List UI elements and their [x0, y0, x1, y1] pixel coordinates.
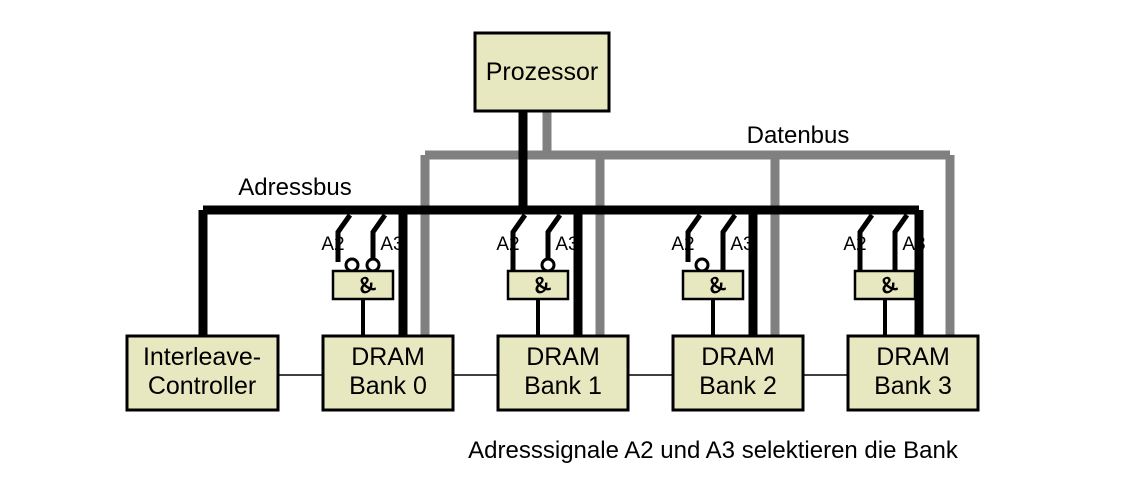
processor-box[interactable]: Prozessor [475, 33, 609, 111]
diagram-caption: Adresssignale A2 und A3 selektieren die … [468, 437, 959, 464]
inversion-bubble-a2-bank0 [346, 259, 358, 271]
interleave-controller-label-line1: Interleave- [143, 343, 261, 371]
processor-label: Prozessor [486, 58, 599, 86]
data-bus-label: Datenbus [747, 122, 850, 149]
signal-label-a3-bank1: A3 [555, 234, 578, 255]
dram-bank-0-label-line1: DRAM [351, 343, 425, 371]
dram-bank-3-label-line1: DRAM [876, 343, 950, 371]
signal-label-a3-bank2: A3 [730, 234, 753, 255]
decoder-bank1: A2 A3 & [496, 215, 578, 338]
dram-bank-2[interactable]: DRAM Bank 2 [673, 336, 803, 410]
decoder-bank0: A2 A3 & [321, 215, 403, 338]
dram-bank-3-label-line2: Bank 3 [874, 372, 952, 400]
diagram-canvas: A2 A3 & A2 A3 & A2 A3 & A2 A3 & [0, 0, 1146, 500]
decoder-bank3: A2 A3 & [843, 215, 925, 338]
inversion-bubble-a2-bank2 [696, 259, 708, 271]
dram-bank-2-label-line1: DRAM [701, 343, 775, 371]
dram-bank-1[interactable]: DRAM Bank 1 [498, 336, 628, 410]
interleaving-diagram: A2 A3 & A2 A3 & A2 A3 & A2 A3 & [0, 0, 1146, 500]
signal-label-a2-bank0: A2 [321, 234, 344, 255]
interleave-controller-label-line2: Controller [148, 372, 256, 400]
dram-bank-1-label-line1: DRAM [526, 343, 600, 371]
dram-bank-2-label-line2: Bank 2 [699, 372, 777, 400]
decoder-bank2: A2 A3 & [671, 215, 753, 338]
dram-bank-1-label-line2: Bank 1 [524, 372, 602, 400]
address-bus-label: Adressbus [238, 174, 351, 201]
signal-label-a2-bank3: A2 [843, 234, 866, 255]
dram-bank-0[interactable]: DRAM Bank 0 [323, 336, 453, 410]
dram-bank-3[interactable]: DRAM Bank 3 [848, 336, 978, 410]
dram-bank-0-label-line2: Bank 0 [349, 372, 427, 400]
signal-label-a2-bank2: A2 [671, 234, 694, 255]
interleave-controller-box[interactable]: Interleave- Controller [127, 336, 278, 410]
data-bus-group [425, 110, 950, 338]
signal-label-a3-bank3: A3 [902, 234, 925, 255]
signal-label-a3-bank0: A3 [380, 234, 403, 255]
signal-label-a2-bank1: A2 [496, 234, 519, 255]
